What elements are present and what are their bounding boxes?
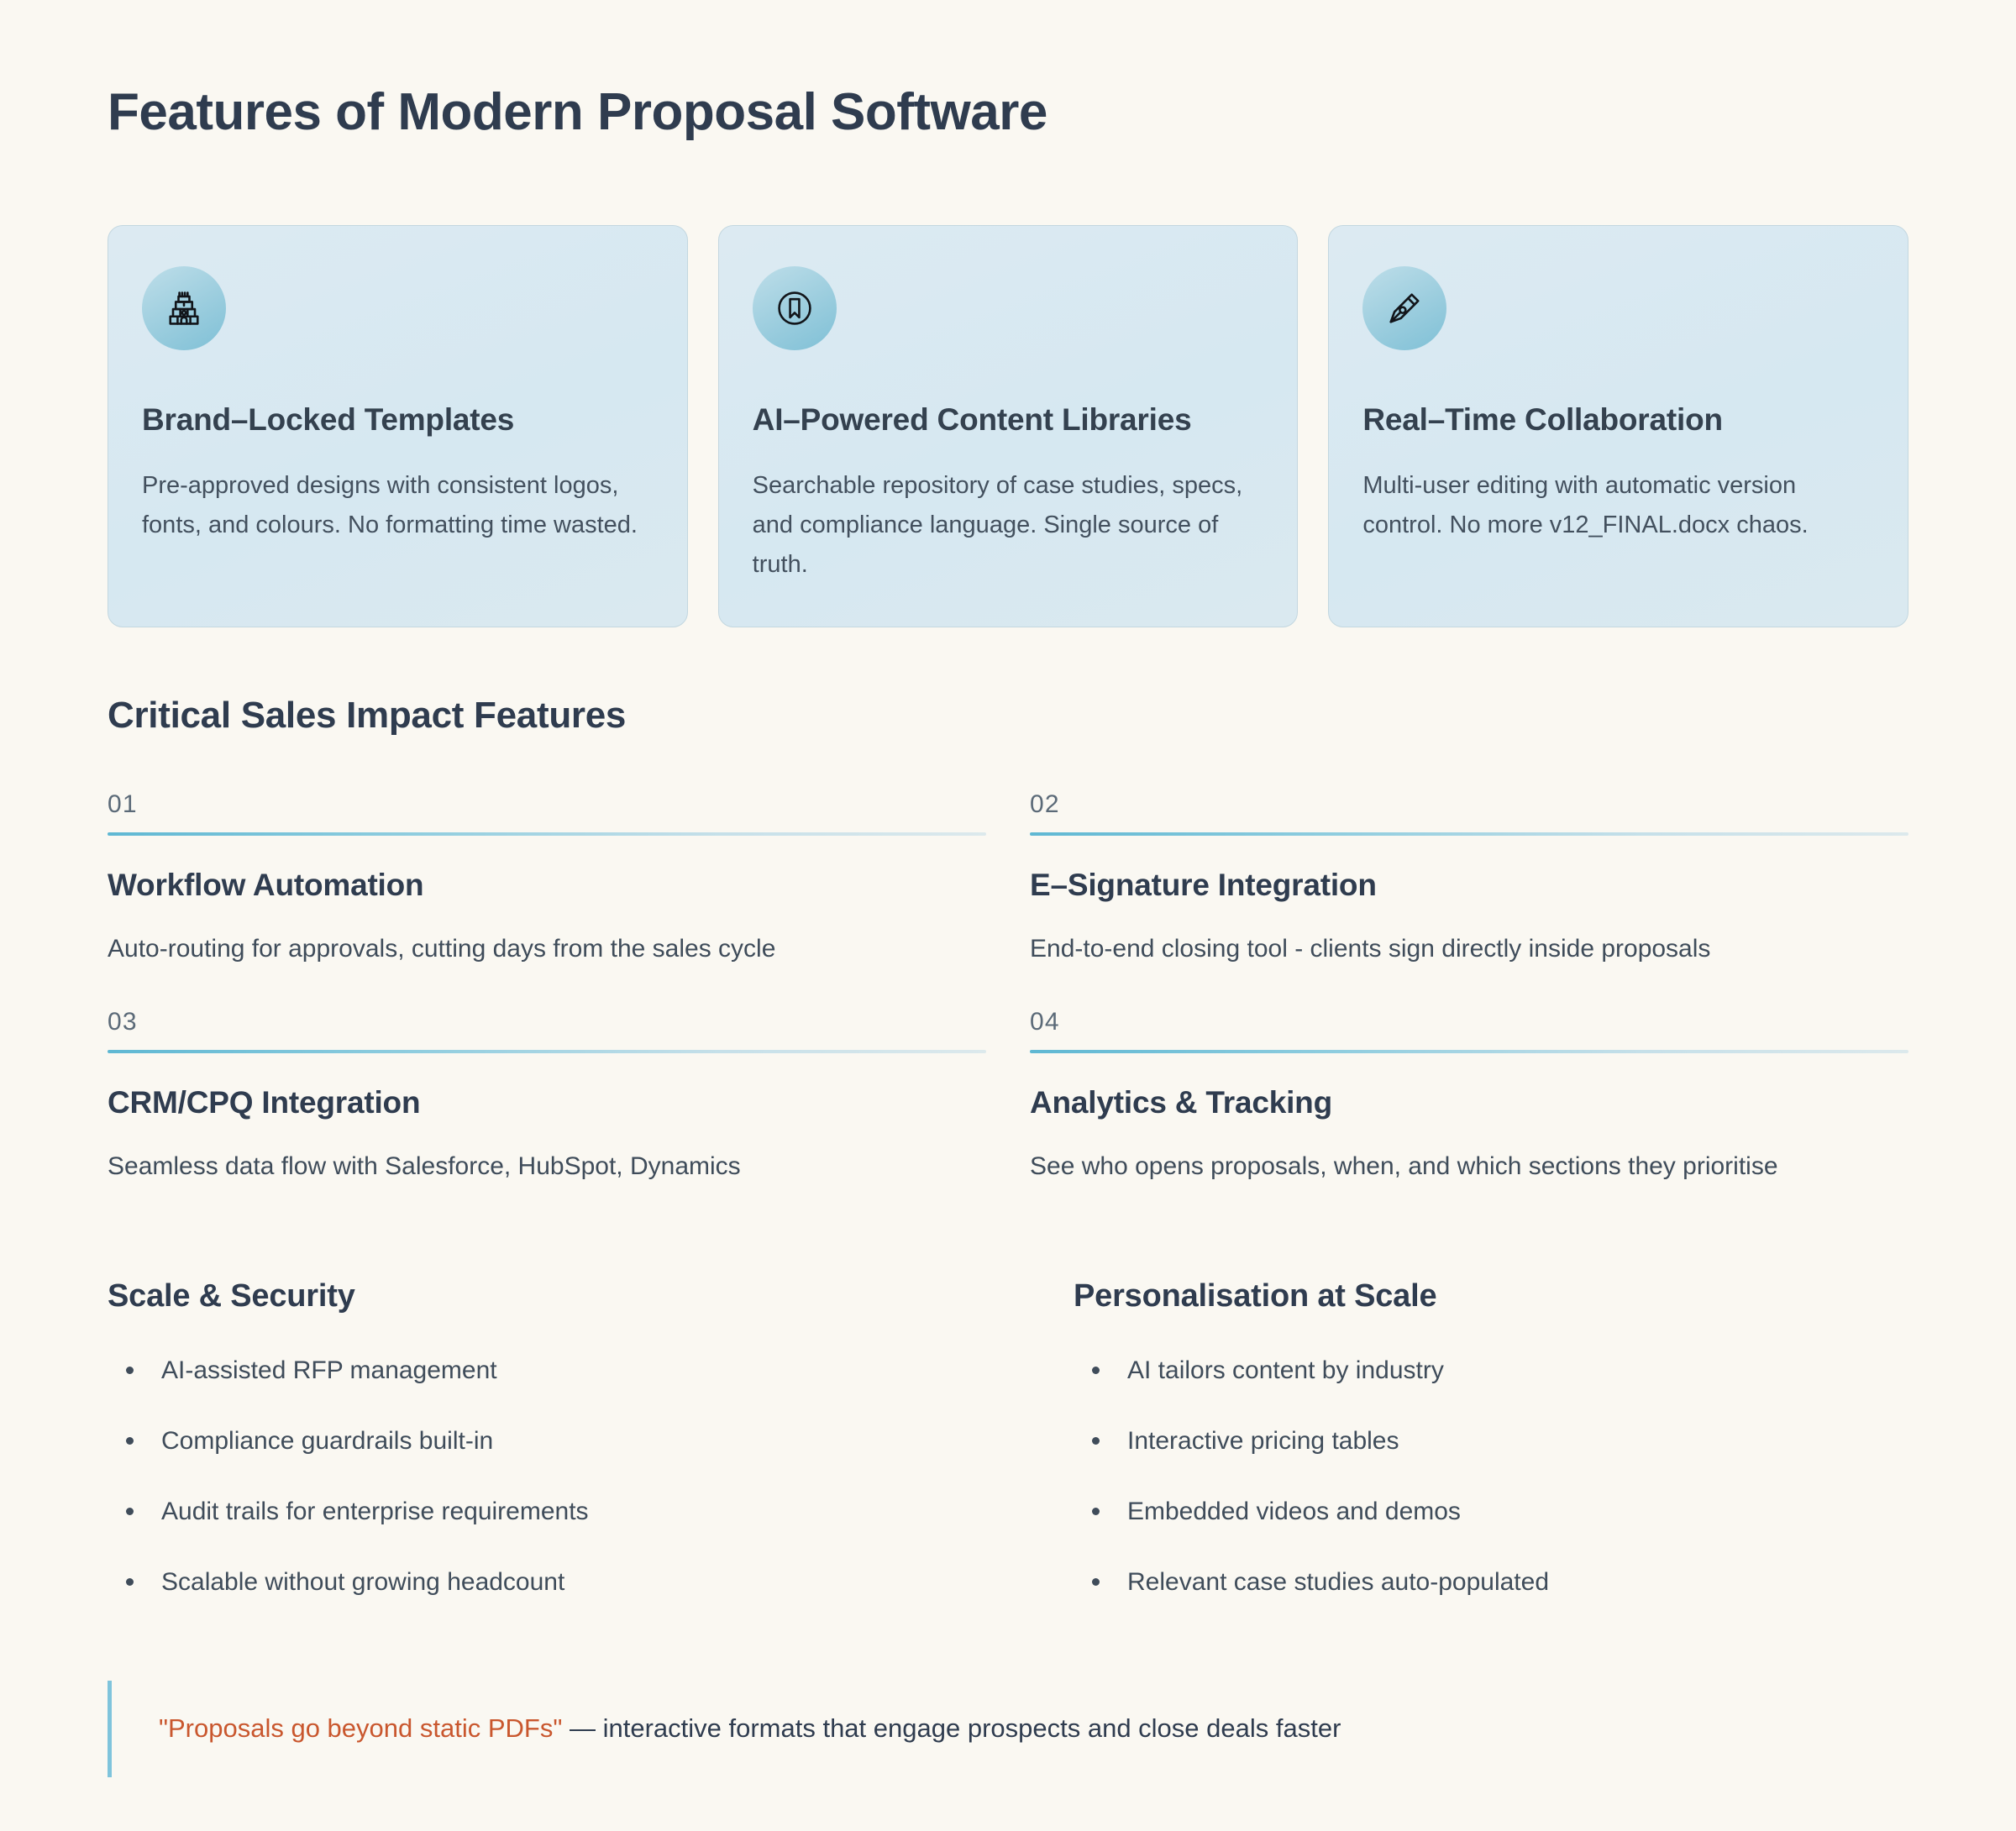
list-item: Scalable without growing headcount (108, 1565, 986, 1600)
list-item: Compliance guardrails built-in (108, 1424, 986, 1459)
list-column-scale-security: Scale & Security AI-assisted RFP managem… (108, 1278, 986, 1600)
list-item: Embedded videos and demos (1074, 1494, 1908, 1529)
item-description: End-to-end closing tool - clients sign d… (1030, 930, 1908, 969)
item-description: Seamless data flow with Salesforce, HubS… (108, 1147, 986, 1187)
item-number: 04 (1030, 1008, 1908, 1036)
item-number: 01 (108, 790, 986, 819)
impact-item-04: 04 Analytics & Tracking See who opens pr… (1030, 1006, 1908, 1187)
list-item: Relevant case studies auto-populated (1074, 1565, 1908, 1600)
item-description: Auto-routing for approvals, cutting days… (108, 930, 986, 969)
list-column-personalisation-at-scale: Personalisation at Scale AI tailors cont… (1030, 1278, 1908, 1600)
bookmark-circle-icon (753, 266, 837, 350)
item-divider (108, 1050, 986, 1053)
list-item: AI-assisted RFP management (108, 1353, 986, 1388)
impact-item-02: 02 E–Signature Integration End-to-end cl… (1030, 789, 1908, 969)
callout-text: "Proposals go beyond static PDFs" — inte… (159, 1709, 1908, 1749)
card-description: Multi-user editing with automatic versio… (1362, 466, 1874, 545)
impact-item-01: 01 Workflow Automation Auto-routing for … (108, 789, 986, 969)
callout-rest: — interactive formats that engage prospe… (562, 1713, 1341, 1743)
card-title: Brand–Locked Templates (142, 402, 654, 438)
impact-features-grid: 01 Workflow Automation Auto-routing for … (108, 789, 1908, 1186)
pen-nib-icon (1362, 266, 1446, 350)
temple-icon (142, 266, 226, 350)
benefit-lists-row: Scale & Security AI-assisted RFP managem… (108, 1278, 1908, 1600)
page-title: Features of Modern Proposal Software (108, 0, 1908, 141)
bullet-list: AI-assisted RFP management Compliance gu… (108, 1353, 986, 1600)
item-divider (108, 832, 986, 836)
item-title: E–Signature Integration (1030, 868, 1908, 903)
callout-quote-block: "Proposals go beyond static PDFs" — inte… (108, 1681, 1908, 1777)
feature-card-ai-powered-content-libraries: AI–Powered Content Libraries Searchable … (718, 225, 1299, 627)
list-item: AI tailors content by industry (1074, 1353, 1908, 1388)
item-description: See who opens proposals, when, and which… (1030, 1147, 1908, 1187)
item-title: Workflow Automation (108, 868, 986, 903)
feature-card-brand-locked-templates: Brand–Locked Templates Pre-approved desi… (108, 225, 688, 627)
item-title: Analytics & Tracking (1030, 1085, 1908, 1120)
list-item: Audit trails for enterprise requirements (108, 1494, 986, 1529)
list-heading: Personalisation at Scale (1074, 1278, 1908, 1314)
impact-item-03: 03 CRM/CPQ Integration Seamless data flo… (108, 1006, 986, 1187)
bullet-list: AI tailors content by industry Interacti… (1074, 1353, 1908, 1600)
item-title: CRM/CPQ Integration (108, 1085, 986, 1120)
item-divider (1030, 1050, 1908, 1053)
item-number: 03 (108, 1008, 986, 1036)
card-description: Pre-approved designs with consistent log… (142, 466, 654, 545)
section-heading-impact: Critical Sales Impact Features (108, 695, 1908, 737)
feature-cards-row: Brand–Locked Templates Pre-approved desi… (108, 225, 1908, 627)
list-item: Interactive pricing tables (1074, 1424, 1908, 1459)
callout-quote-highlight: "Proposals go beyond static PDFs" (159, 1713, 562, 1743)
item-number: 02 (1030, 790, 1908, 819)
card-title: Real–Time Collaboration (1362, 402, 1874, 438)
list-heading: Scale & Security (108, 1278, 986, 1314)
feature-overview-page: Features of Modern Proposal Software Bra… (0, 0, 2016, 1831)
feature-card-real-time-collaboration: Real–Time Collaboration Multi-user editi… (1328, 225, 1908, 627)
card-title: AI–Powered Content Libraries (753, 402, 1264, 438)
item-divider (1030, 832, 1908, 836)
card-description: Searchable repository of case studies, s… (753, 466, 1264, 585)
